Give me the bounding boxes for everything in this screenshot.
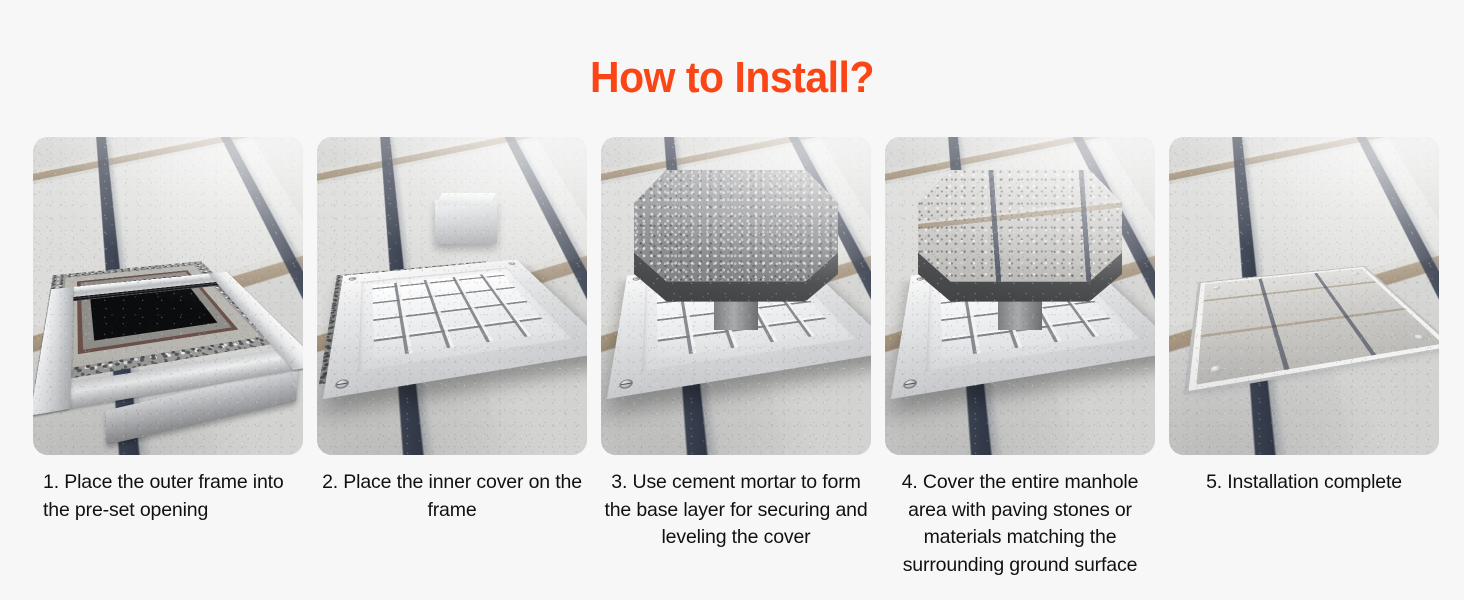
install-step-4: 4. Cover the entire manhole area with pa…: [885, 137, 1155, 579]
paving-scene-1: [33, 137, 303, 455]
terrazzo-speckle: [33, 137, 303, 455]
paving-scene-3: [601, 137, 871, 455]
install-step-2: 2. Place the inner cover on the frame: [317, 137, 587, 524]
step-3-image: [601, 137, 871, 455]
step-5-image: [1169, 137, 1439, 455]
step-1-caption: 1. Place the outer frame into the pre-se…: [33, 469, 303, 524]
terrazzo-speckle: [317, 137, 587, 455]
page-title: How to Install?: [51, 52, 1413, 104]
step-3-caption: 3. Use cement mortar to form the base la…: [601, 469, 871, 552]
install-step-1: 1. Place the outer frame into the pre-se…: [33, 137, 303, 524]
install-step-3: 3. Use cement mortar to form the base la…: [601, 137, 871, 552]
paving-scene-5: [1169, 137, 1439, 455]
step-4-image: [885, 137, 1155, 455]
install-step-5: 5. Installation complete: [1169, 137, 1439, 497]
step-5-caption: 5. Installation complete: [1169, 469, 1439, 497]
install-steps-strip: 1. Place the outer frame into the pre-se…: [33, 137, 1431, 579]
paving-scene-4: [885, 137, 1155, 455]
terrazzo-speckle: [885, 137, 1155, 455]
terrazzo-speckle: [1169, 137, 1439, 455]
step-2-caption: 2. Place the inner cover on the frame: [317, 469, 587, 524]
step-4-caption: 4. Cover the entire manhole area with pa…: [885, 469, 1155, 579]
paving-scene-2: [317, 137, 587, 455]
step-2-image: [317, 137, 587, 455]
step-1-image: [33, 137, 303, 455]
terrazzo-speckle: [601, 137, 871, 455]
